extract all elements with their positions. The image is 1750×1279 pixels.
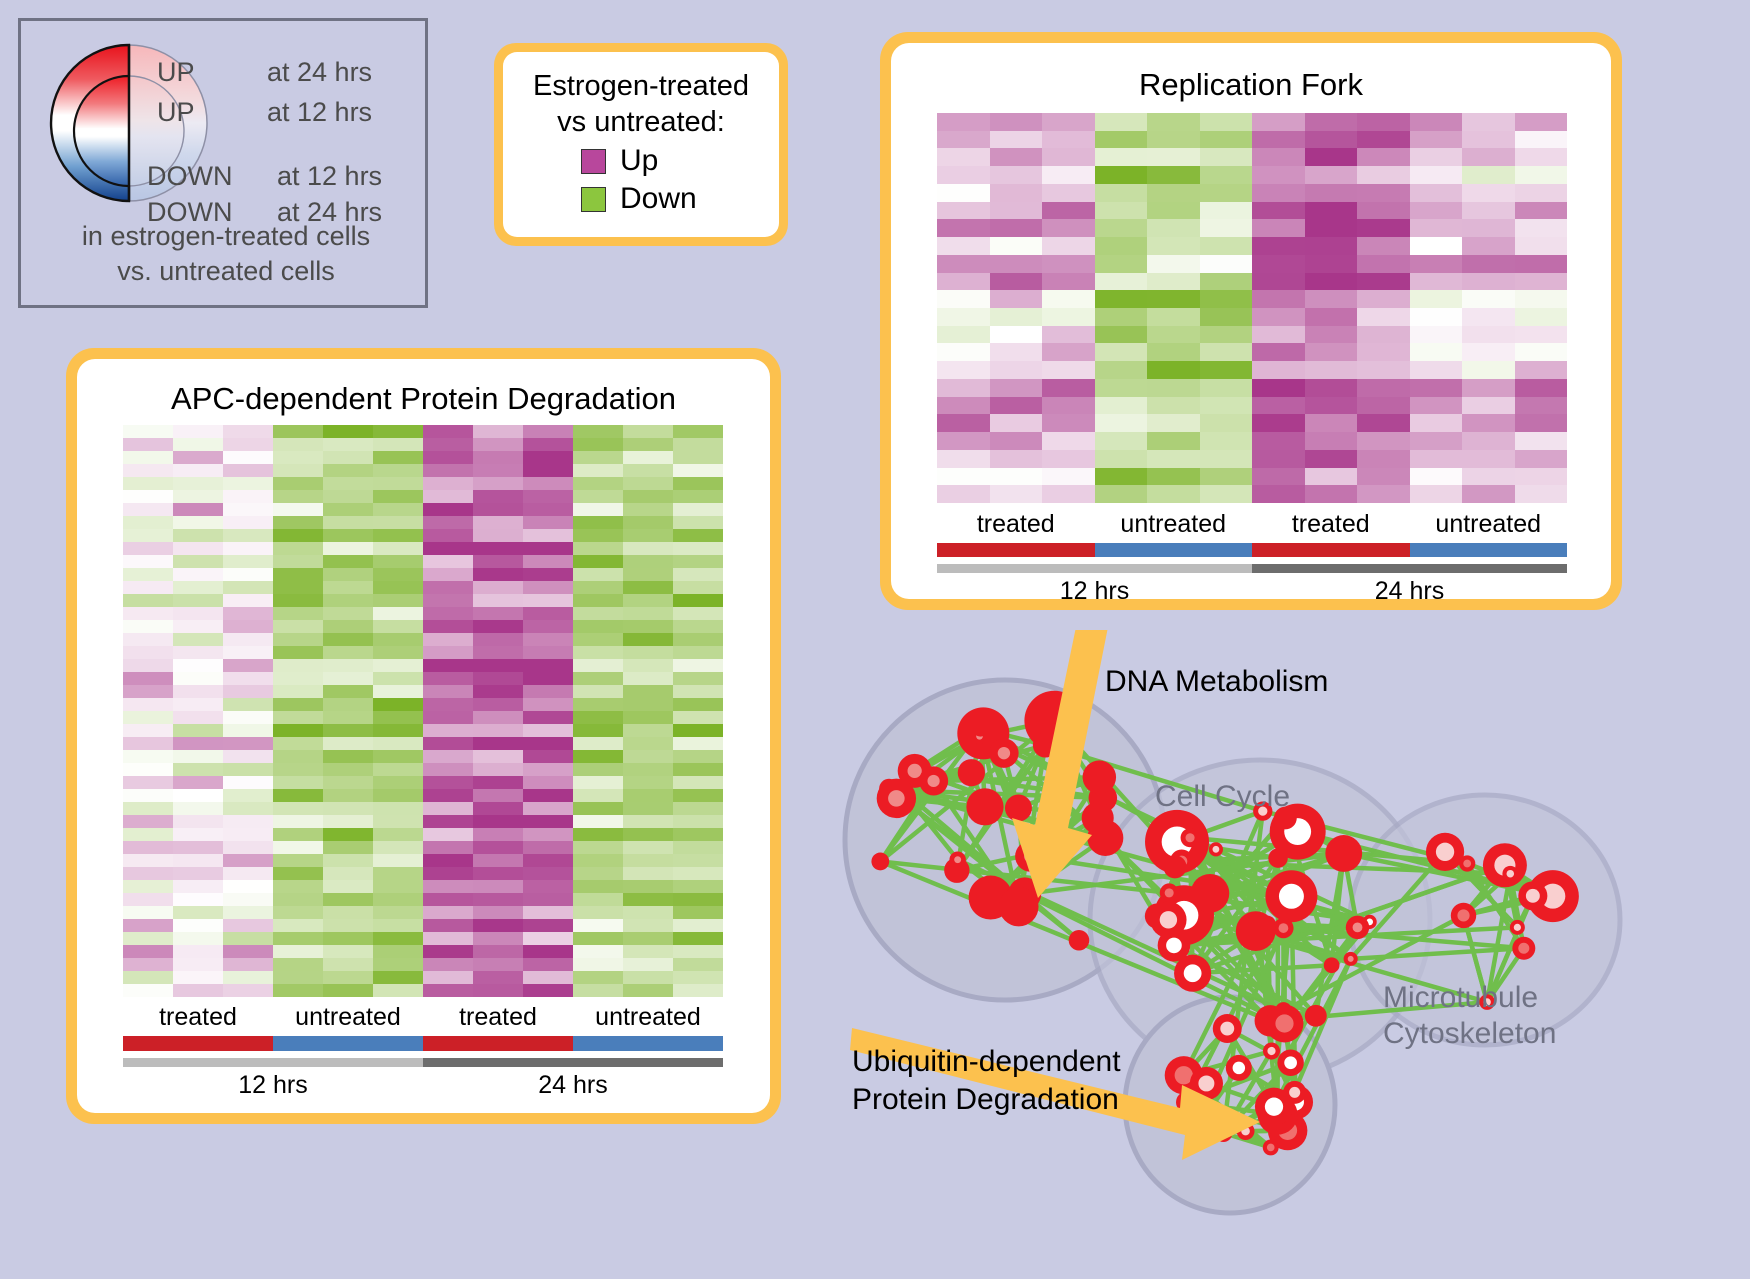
apc-heatmap: [123, 425, 723, 997]
network-node: [958, 759, 985, 786]
time-seg-24hrs: [1252, 564, 1567, 573]
treatment-seg-untreated-24: [1410, 543, 1568, 557]
network-node: [1512, 937, 1535, 960]
ubiquitin-label-line-2: Protein Degradation: [852, 1081, 1121, 1119]
treatment-seg-treated-12: [937, 543, 1095, 557]
network-node: [1305, 1005, 1327, 1027]
network-node: [919, 766, 948, 795]
panel-apc-dependent-protein-degradation: APC-dependent Protein Degradation treate…: [66, 348, 781, 1124]
replication-fork-time-bar: [937, 564, 1567, 573]
apc-time-bar: [123, 1058, 723, 1067]
network-node: [1181, 828, 1200, 847]
group-label-3: untreated: [1410, 510, 1568, 539]
network-node: [1451, 903, 1476, 928]
legend-item-down: Down: [581, 182, 765, 216]
network-node: [1268, 848, 1287, 867]
network-node: [1483, 843, 1527, 887]
microtubule-label-line-2b: Cytoskeleton: [1383, 1016, 1556, 1052]
network-node: [1150, 902, 1186, 938]
network-node: [1346, 916, 1369, 939]
network-node: [877, 779, 916, 818]
treatment-seg-treated-12: [123, 1036, 273, 1051]
network-node: [1277, 1050, 1303, 1076]
time-label-12hrs: 12 hrs: [937, 577, 1252, 606]
apc-treatment-bar: [123, 1036, 723, 1051]
replication-fork-treatment-bar: [937, 543, 1567, 557]
group-label-1: untreated: [1095, 510, 1253, 539]
down-label: Down: [620, 182, 697, 216]
network-node: [1459, 855, 1475, 871]
group-label-3: untreated: [573, 1003, 723, 1032]
note-line-1: in estrogen-treated cells: [21, 219, 431, 254]
apc-group-labels: treated untreated treated untreated: [123, 1003, 723, 1032]
estrogen-legend-box: Estrogen-treated vs untreated: Up Down: [494, 43, 788, 246]
network-node: [973, 721, 989, 737]
network-node: [1209, 842, 1223, 856]
network-node: [1265, 870, 1317, 922]
time-seg-12hrs: [937, 564, 1252, 573]
microtubule-label-line-1: Microtubule: [1383, 980, 1556, 1016]
treatment-seg-untreated-12: [1095, 543, 1253, 557]
network-node: [1191, 874, 1230, 913]
network-node: [871, 853, 889, 871]
figure-root: UP at 24 hrs UP at 12 hrs DOWN at 12 hrs…: [0, 0, 1750, 1279]
network-node: [989, 738, 1018, 767]
group-label-2: treated: [1252, 510, 1410, 539]
network-node: [1174, 955, 1211, 992]
circle-legend-note: in estrogen-treated cells vs. untreated …: [21, 219, 431, 289]
network-node: [1344, 952, 1358, 966]
replication-fork-group-labels: treated untreated treated untreated: [937, 510, 1567, 539]
legend-row-0-time: at 24 hrs: [267, 57, 372, 88]
legend-row-2-time: at 12 hrs: [277, 161, 382, 192]
network-node: [1263, 1140, 1279, 1156]
group-label-1: untreated: [273, 1003, 423, 1032]
group-label-0: treated: [123, 1003, 273, 1032]
up-color-swatch: [581, 149, 606, 174]
replication-fork-title: Replication Fork: [891, 67, 1611, 103]
network-node: [1160, 883, 1179, 902]
time-seg-24hrs: [423, 1058, 723, 1067]
legend-row-2-label: DOWN: [147, 161, 232, 192]
legend-row-1-time: at 12 hrs: [267, 97, 372, 128]
network-node: [1266, 1005, 1304, 1043]
network-node: [1324, 957, 1340, 973]
network-node: [1069, 930, 1090, 951]
network-node: [1263, 1042, 1280, 1059]
circle-legend-box: UP at 24 hrs UP at 12 hrs DOWN at 12 hrs…: [18, 18, 428, 308]
legend-row-1-label: UP: [157, 97, 195, 128]
network-node: [966, 788, 1003, 825]
replication-fork-time-labels: 12 hrs 24 hrs: [937, 577, 1567, 606]
legend-item-up: Up: [581, 144, 765, 178]
note-line-2: vs. untreated cells: [21, 254, 431, 289]
treatment-seg-untreated-12: [273, 1036, 423, 1051]
treatment-seg-treated-24: [1252, 543, 1410, 557]
network-node: [1502, 866, 1518, 882]
network-node: [1213, 1014, 1242, 1043]
network-node: [1510, 920, 1525, 935]
treatment-seg-treated-24: [423, 1036, 573, 1051]
network-node: [1226, 1055, 1252, 1081]
ubiquitin-label-line-1: Ubiquitin-dependent: [852, 1043, 1121, 1081]
apc-title: APC-dependent Protein Degradation: [77, 381, 770, 417]
estrogen-legend-header: Estrogen-treated vs untreated:: [517, 68, 765, 140]
cluster-label-microtubule-cytoskeleton: Microtubule Protein Degradation Cytoskel…: [1383, 980, 1556, 1052]
cluster-label-ubiquitin-degradation: Ubiquitin-dependent Protein Degradation: [852, 1043, 1121, 1119]
legend-row-0-label: UP: [157, 57, 195, 88]
cluster-label-cell-cycle: Cell Cycle: [1155, 780, 1290, 814]
network-node: [1083, 760, 1117, 794]
network-node: [1518, 881, 1547, 910]
replication-fork-heatmap: [937, 113, 1567, 503]
network-node: [1005, 795, 1032, 822]
estrogen-header-line-2: vs untreated:: [517, 104, 765, 140]
network-node: [949, 851, 965, 867]
time-label-12hrs: 12 hrs: [123, 1071, 423, 1100]
treatment-seg-untreated-24: [573, 1036, 723, 1051]
down-color-swatch: [581, 187, 606, 212]
network-node: [1163, 855, 1186, 878]
network-node: [999, 887, 1039, 927]
time-label-24hrs: 24 hrs: [423, 1071, 723, 1100]
network-node: [1255, 1088, 1293, 1126]
network-node: [1236, 911, 1276, 951]
time-label-24hrs: 24 hrs: [1252, 577, 1567, 606]
group-label-0: treated: [937, 510, 1095, 539]
network-node: [1273, 918, 1293, 938]
cluster-label-dna-metabolism: DNA Metabolism: [1105, 665, 1328, 699]
apc-time-labels: 12 hrs 24 hrs: [123, 1071, 723, 1100]
network-node: [1082, 802, 1114, 834]
group-label-2: treated: [423, 1003, 573, 1032]
estrogen-header-line-1: Estrogen-treated: [517, 68, 765, 104]
network-node: [1325, 835, 1362, 872]
pathway-network-graph: [830, 630, 1750, 1279]
time-seg-12hrs: [123, 1058, 423, 1067]
network-node: [1426, 833, 1464, 871]
up-label: Up: [620, 144, 658, 178]
panel-replication-fork: Replication Fork treated untreated treat…: [880, 32, 1622, 610]
